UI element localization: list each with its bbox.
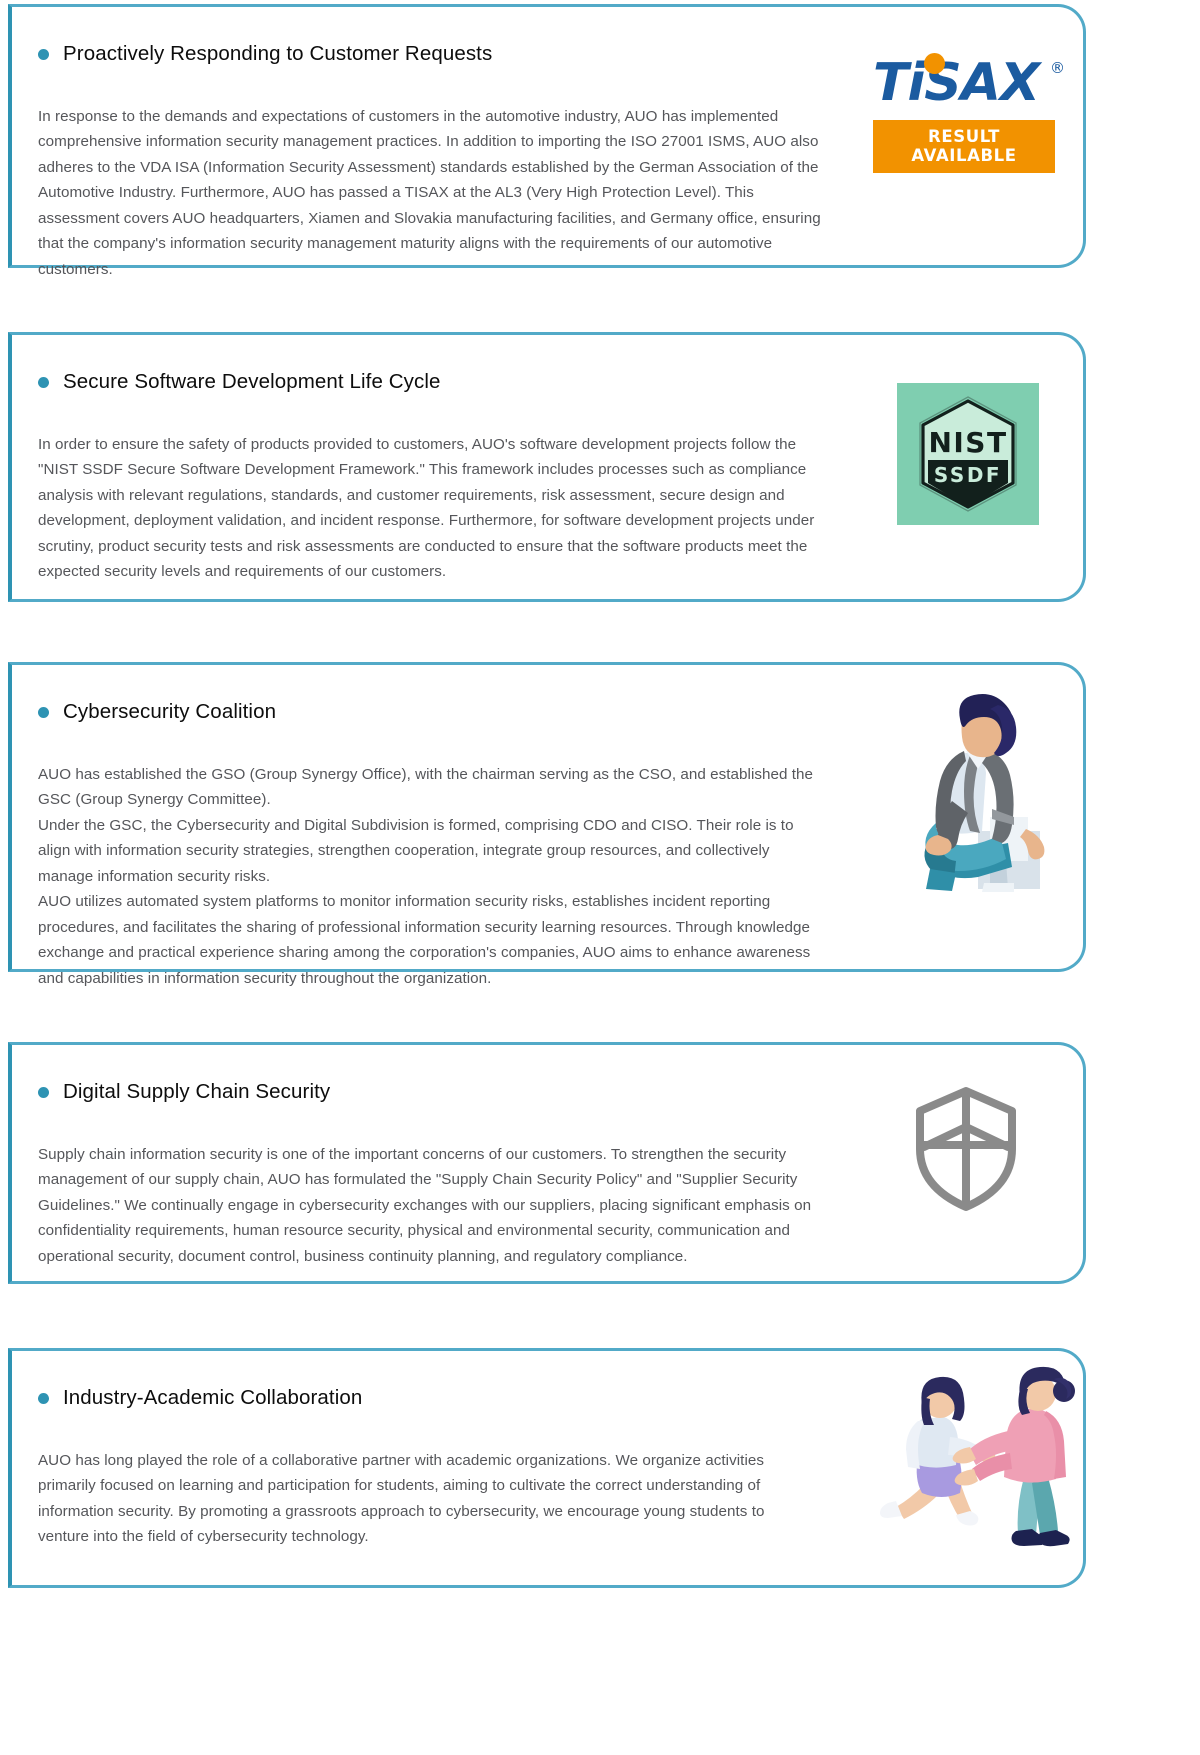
card-body: AUO has long played the role of a collab… <box>38 1448 818 1550</box>
card-cybersecurity-coalition: Cybersecurity Coalition AUO has establis… <box>8 662 1086 972</box>
bullet-icon <box>38 1393 49 1404</box>
card-paragraph: AUO has long played the role of a collab… <box>38 1448 818 1550</box>
card-industry-academic-collaboration: Industry-Academic Collaboration AUO has … <box>8 1348 1086 1588</box>
bullet-icon <box>38 49 49 60</box>
card-artwork <box>868 665 1083 903</box>
card-content: Proactively Responding to Customer Reque… <box>12 7 853 302</box>
card-digital-supply-chain-security: Digital Supply Chain Security Supply cha… <box>8 1042 1086 1284</box>
card-artwork <box>873 1351 1083 1561</box>
card-paragraph: AUO has established the GSO (Group Syner… <box>38 762 828 992</box>
nist-badge-top-label: NIST <box>928 426 1007 459</box>
information-security-content-page: Proactively Responding to Customer Reque… <box>0 0 1200 1755</box>
bullet-icon <box>38 1087 49 1098</box>
bullet-icon <box>38 377 49 388</box>
card-content: Secure Software Development Life Cycle I… <box>12 335 853 605</box>
card-proactively-responding-to-customer-requests: Proactively Responding to Customer Reque… <box>8 4 1086 268</box>
nist-hexagon-icon: NIST SSDF <box>912 394 1024 514</box>
card-title: Digital Supply Chain Security <box>63 1080 330 1105</box>
card-content: Cybersecurity Coalition AUO has establis… <box>12 665 868 1011</box>
card-header: Secure Software Development Life Cycle <box>38 353 853 412</box>
card-header: Industry-Academic Collaboration <box>38 1369 873 1428</box>
card-title: Secure Software Development Life Cycle <box>63 370 441 395</box>
card-artwork: NIST SSDF <box>853 335 1083 525</box>
two-people-illustration <box>878 1361 1078 1561</box>
nist-badge-bottom-label: SSDF <box>934 463 1002 487</box>
card-body: Supply chain information security is one… <box>38 1142 828 1270</box>
card-header: Proactively Responding to Customer Reque… <box>38 25 853 84</box>
seated-person-illustration <box>886 693 1066 903</box>
card-body: In order to ensure the safety of product… <box>38 432 828 585</box>
card-paragraph: In response to the demands and expectati… <box>38 104 828 283</box>
card-title: Cybersecurity Coalition <box>63 700 276 725</box>
tisax-result-available-banner: RESULT AVAILABLE <box>873 120 1055 173</box>
tisax-wordmark-text: TiSAX <box>873 53 1063 113</box>
registered-trademark-icon: ® <box>1050 59 1065 77</box>
card-header: Cybersecurity Coalition <box>38 683 868 742</box>
card-body: AUO has established the GSO (Group Syner… <box>38 762 828 992</box>
nist-ssdf-badge: NIST SSDF <box>897 383 1039 525</box>
card-artwork: TiSAX ® RESULT AVAILABLE <box>853 7 1083 173</box>
card-header: Digital Supply Chain Security <box>38 1063 848 1122</box>
card-title: Proactively Responding to Customer Reque… <box>63 42 492 67</box>
card-title: Industry-Academic Collaboration <box>63 1386 362 1411</box>
shield-icon <box>908 1083 1024 1215</box>
card-artwork <box>848 1045 1083 1215</box>
card-body: In response to the demands and expectati… <box>38 104 828 283</box>
tisax-logo: TiSAX ® RESULT AVAILABLE <box>873 53 1063 173</box>
tisax-wordmark: TiSAX ® <box>873 53 1063 113</box>
card-content: Industry-Academic Collaboration AUO has … <box>12 1351 873 1570</box>
card-paragraph: In order to ensure the safety of product… <box>38 432 828 585</box>
card-paragraph: Supply chain information security is one… <box>38 1142 828 1270</box>
card-secure-software-development-life-cycle: Secure Software Development Life Cycle I… <box>8 332 1086 602</box>
bullet-icon <box>38 707 49 718</box>
tisax-orange-dot-icon <box>924 53 945 74</box>
card-content: Digital Supply Chain Security Supply cha… <box>12 1045 848 1289</box>
